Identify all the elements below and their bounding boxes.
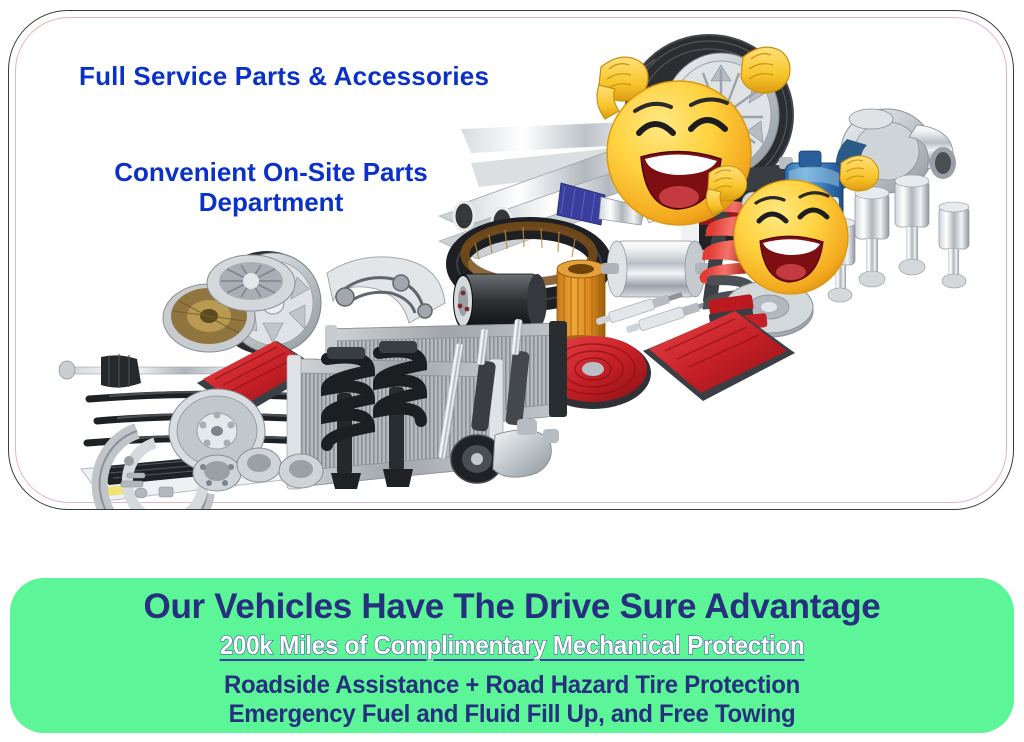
svg-text:MOTOR: MOTOR xyxy=(794,205,835,217)
hero-headline-primary: Full Service Parts & Accessories xyxy=(79,61,489,92)
promo-coverage-highlight: 200k Miles of Complimentary Mechanical P… xyxy=(40,630,984,661)
promo-banner: Our Vehicles Have The Drive Sure Advanta… xyxy=(10,578,1014,733)
advertisement-page: MOTOR OIL xyxy=(0,0,1024,742)
promo-benefit-line-2: Emergency Fuel and Fluid Fill Up, and Fr… xyxy=(30,700,994,729)
promo-headline: Our Vehicles Have The Drive Sure Advanta… xyxy=(10,587,1014,627)
promo-benefit-line-1: Roadside Assistance + Road Hazard Tire P… xyxy=(30,671,994,700)
hero-panel: MOTOR OIL xyxy=(8,10,1014,510)
hero-headline-secondary-line1: Convenient On-Site Parts xyxy=(114,157,428,187)
hero-headline-secondary-line2: Department xyxy=(199,187,343,217)
svg-text:OIL: OIL xyxy=(805,218,824,230)
hero-headline-secondary: Convenient On-Site Parts Department xyxy=(71,157,471,217)
